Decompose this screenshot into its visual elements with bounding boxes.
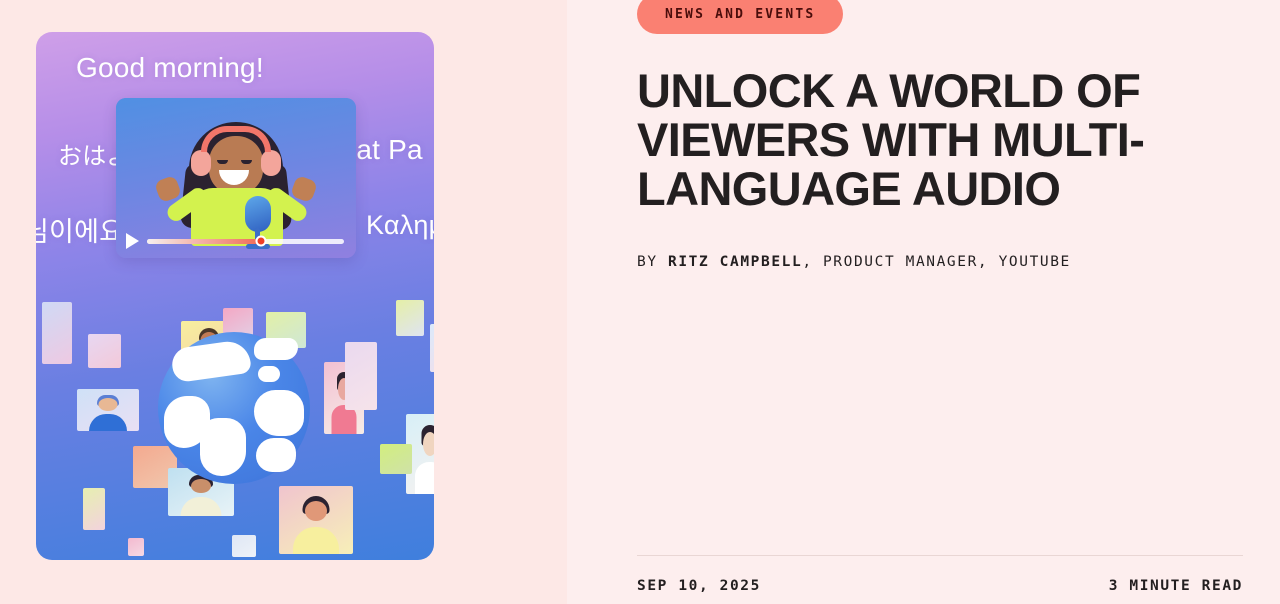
progress-scrubber[interactable]	[147, 239, 344, 244]
author-name[interactable]: RITZ CAMPBELL	[668, 254, 802, 270]
viewer-tile	[396, 300, 424, 336]
read-time: 3 MINUTE READ	[1109, 578, 1243, 594]
viewer-tile	[83, 488, 105, 530]
viewer-tile	[345, 342, 377, 410]
illustration-panel: Good morning! おはよう Selamat Pa 님이에요 Καλημ…	[0, 0, 567, 604]
viewer-tile	[77, 389, 139, 431]
video-player-controls[interactable]	[122, 230, 350, 252]
category-badge[interactable]: NEWS AND EVENTS	[637, 0, 843, 34]
viewer-tile	[279, 486, 353, 554]
byline: BY RITZ CAMPBELL, PRODUCT MANAGER, YOUTU…	[637, 254, 1243, 270]
greeting-english: Good morning!	[76, 52, 264, 84]
video-preview-window	[116, 98, 356, 258]
greeting-greek: Καλημέ	[366, 210, 434, 241]
byline-prefix: BY	[637, 254, 658, 270]
viewer-tile	[380, 444, 412, 474]
article-meta: SEP 10, 2025 3 MINUTE READ	[637, 555, 1243, 604]
microphone-icon	[245, 196, 271, 232]
page-title: UNLOCK A WORLD OF VIEWERS WITH MULTI-LAN…	[637, 66, 1197, 213]
viewer-tile	[42, 302, 72, 364]
play-icon[interactable]	[126, 233, 139, 249]
viewer-tile	[128, 538, 144, 556]
viewer-tile	[88, 334, 121, 368]
greeting-korean: 님이에요	[36, 210, 124, 249]
creator-avatar	[161, 112, 311, 244]
headphone-ear-right	[261, 150, 281, 176]
headphone-ear-left	[191, 150, 211, 176]
viewer-tile	[232, 535, 256, 557]
article-header-panel: NEWS AND EVENTS UNLOCK A WORLD OF VIEWER…	[567, 0, 1280, 604]
progress-handle[interactable]	[256, 236, 267, 247]
article-content: NEWS AND EVENTS UNLOCK A WORLD OF VIEWER…	[637, 0, 1243, 270]
author-role: , PRODUCT MANAGER, YOUTUBE	[802, 254, 1071, 270]
hero-illustration-card: Good morning! おはよう Selamat Pa 님이에요 Καλημ…	[36, 32, 434, 560]
publish-date: SEP 10, 2025	[637, 578, 761, 594]
viewer-tile	[430, 324, 434, 372]
illustration-canvas: Good morning! おはよう Selamat Pa 님이에요 Καλημ…	[36, 32, 434, 560]
globe-icon	[158, 332, 310, 484]
article-hero-page: Good morning! おはよう Selamat Pa 님이에요 Καλημ…	[0, 0, 1280, 604]
